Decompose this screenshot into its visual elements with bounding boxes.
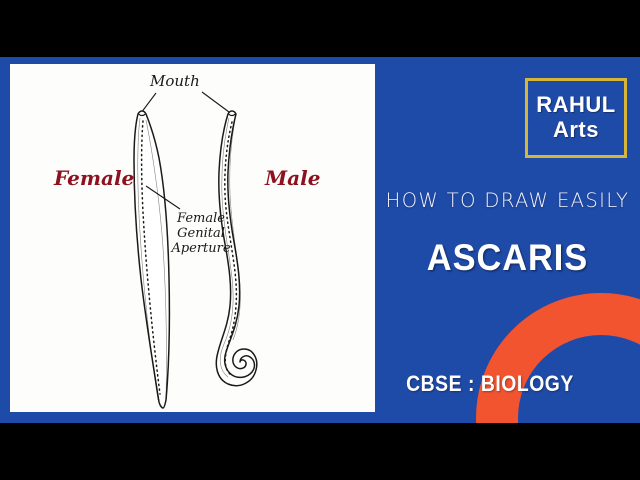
- aperture-line-1: Female: [162, 212, 240, 227]
- video-frame: Mouth Female Male Female Genital Apertur…: [0, 0, 640, 480]
- channel-logo-box: RAHUL Arts: [525, 78, 627, 158]
- female-specimen: [134, 111, 169, 408]
- tagline-text: HOW TO DRAW EASILY: [375, 189, 640, 212]
- aperture-line-3: Aperture: [162, 242, 240, 257]
- main-title: ASCARIS: [384, 237, 630, 279]
- aperture-line-2: Genital: [162, 227, 240, 242]
- female-body-outline: [134, 111, 169, 408]
- leader-line-mouth-female: [141, 93, 156, 113]
- subject-label: CBSE : BIOLOGY: [389, 371, 591, 397]
- leader-line-mouth-male: [202, 92, 229, 112]
- label-female-genital-aperture: Female Genital Aperture: [162, 212, 240, 257]
- drawing-panel: Mouth Female Male Female Genital Apertur…: [10, 64, 375, 412]
- orange-ring-decoration: [476, 293, 640, 423]
- label-female: Female: [54, 167, 134, 190]
- label-male: Male: [265, 167, 320, 190]
- letterbox-bar-bottom: [0, 423, 640, 480]
- logo-text-line-1: RAHUL: [536, 93, 616, 118]
- label-mouth: Mouth: [150, 73, 200, 90]
- logo-text-line-2: Arts: [553, 118, 599, 143]
- thumbnail-slide: Mouth Female Male Female Genital Apertur…: [0, 57, 640, 423]
- letterbox-bar-top: [0, 0, 640, 57]
